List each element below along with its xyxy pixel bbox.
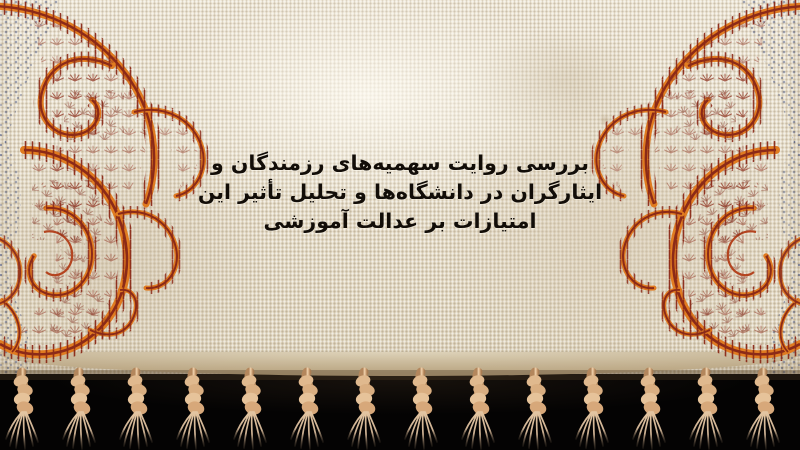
tassel-fringe: [0, 346, 800, 450]
paisley-embroidery-right: [506, 0, 800, 374]
tassel-row: [6, 372, 779, 449]
title-card-canvas: بررسی روایت سهمیه‌های رزمندگان و ایثارگر…: [0, 0, 800, 450]
paisley-embroidery-left: [0, 0, 294, 374]
